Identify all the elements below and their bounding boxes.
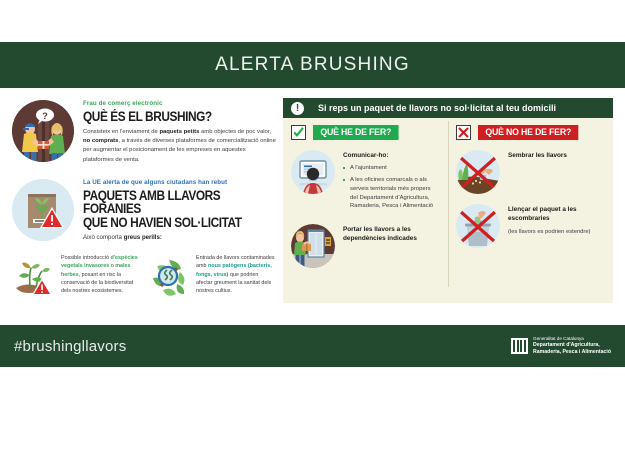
generalitat-logo-mark	[511, 338, 528, 354]
checkmark-box-icon	[291, 125, 306, 140]
do-item-communicate-bullets: A l'ajuntamentA les oficines comarcals o…	[343, 164, 440, 211]
header-band: ALERTA BRUSHING	[0, 42, 625, 88]
dont-item-sow: Sembrar les llavors	[456, 150, 605, 194]
svg-text:?: ?	[42, 111, 48, 121]
list-item: A les oficines comarcals o als serveis t…	[343, 176, 440, 211]
do-item-deliver-title: Portar les llavors a les dependències in…	[343, 226, 440, 244]
column-what-to-do: QUÈ HE DE FER?	[283, 118, 448, 303]
generalitat-logo-text: Generalitat de Catalunya Departament d'A…	[533, 336, 611, 355]
do-item-deliver-text: Portar les llavors a les dependències in…	[343, 224, 440, 244]
do-item-communicate: Comunicar-ho: A l'ajuntamentA les oficin…	[291, 150, 440, 214]
generalitat-de-catalunya-logo: Generalitat de Catalunya Departament d'A…	[511, 336, 611, 355]
block2-subnote-bold: greus perills:	[124, 234, 162, 241]
block2-headline-line2: QUE NO HAVIEN SOL·LICITAT	[83, 216, 253, 230]
block2-text: La UE alerta de que alguns ciutadans han…	[83, 179, 276, 241]
dont-item-sow-text: Sembrar les llavors	[508, 150, 605, 161]
magnifier-leaf-pathogen-illustration	[147, 254, 191, 298]
do-tag-row: QUÈ HE DE FER?	[291, 125, 440, 140]
right-panel-banner-text: Si reps un paquet de llavors no sol·lici…	[318, 103, 556, 113]
dont-item-trash: Llençar el paquet a les escombraries (le…	[456, 204, 605, 248]
risk-pathogens: Entrada de llavors contaminades amb nous…	[147, 254, 276, 298]
footer-hashtag: #brushingllavors	[14, 338, 126, 355]
wilting-plant-warning-illustration	[12, 254, 56, 298]
block2-subnote-prefix: Això comporta	[83, 234, 124, 241]
do-item-communicate-title: Comunicar-ho:	[343, 152, 440, 161]
dont-item-trash-title: Llençar el paquet a les escombraries	[508, 206, 605, 224]
person-at-computer-illustration	[291, 150, 335, 194]
page-title: ALERTA BRUSHING	[215, 54, 410, 76]
column-divider	[448, 121, 449, 287]
do-item-communicate-text: Comunicar-ho: A l'ajuntamentA les oficin…	[343, 150, 440, 214]
block1-text: Frau de comerç electrònic QUÈ ÉS EL BRUS…	[83, 100, 276, 165]
dont-tag-row: QUÈ NO HE DE FER?	[456, 125, 605, 140]
seed-packet-warning-illustration	[12, 179, 74, 241]
exclamation-circle-icon: !	[291, 102, 304, 115]
trash-bin-crossed-illustration	[456, 204, 500, 248]
logo-line-2: Departament d'Agricultura,	[533, 342, 611, 349]
planting-seeds-crossed-illustration	[456, 150, 500, 194]
dont-item-trash-subtext: (les llavors es podrien estendre)	[508, 228, 605, 237]
cross-box-icon	[456, 125, 471, 140]
person-delivering-package-illustration	[291, 224, 335, 268]
block2-kicker: La UE alerta de que alguns ciutadans han…	[83, 179, 276, 187]
block-what-is-brushing: ?	[12, 100, 276, 165]
risk1-text: Possible introducció d'espècies vegetals…	[61, 254, 141, 296]
risk2-text: Entrada de llavors contaminades amb nous…	[196, 254, 276, 296]
right-panel-columns: QUÈ HE DE FER?	[283, 118, 613, 303]
risk-invasive-plants: Possible introducció d'espècies vegetals…	[12, 254, 141, 298]
dont-tag-label: QUÈ NO HE DE FER?	[478, 125, 578, 140]
right-panel-banner: ! Si reps un paquet de llavors no sol·li…	[283, 98, 613, 118]
block1-kicker: Frau de comerç electrònic	[83, 100, 276, 108]
column-what-not-to-do: QUÈ NO HE DE FER?	[448, 118, 613, 303]
dont-item-trash-text: Llençar el paquet a les escombraries (le…	[508, 204, 605, 237]
logo-line-3: Ramaderia, Pesca i Alimentació	[533, 349, 611, 356]
block2-headline-line1: PAQUETS AMB LLAVORS FORANIES	[83, 189, 253, 217]
block1-headline: QUÈ ÉS EL BRUSHING?	[83, 110, 253, 124]
block-foreign-seed-packets: La UE alerta de que alguns ciutadans han…	[12, 179, 276, 241]
do-item-deliver: Portar les llavors a les dependències in…	[291, 224, 440, 268]
block2-subnote: Això comporta greus perills:	[83, 234, 276, 241]
dont-item-sow-title: Sembrar les llavors	[508, 152, 605, 161]
content-area: ?	[0, 88, 625, 320]
delivery-people-illustration: ?	[12, 100, 74, 162]
right-panel: ! Si reps un paquet de llavors no sol·li…	[283, 98, 613, 303]
left-column: ?	[12, 100, 276, 298]
infographic-poster: ALERTA BRUSHING ?	[0, 0, 625, 459]
footer-band: #brushingllavors Generalitat de Cataluny…	[0, 325, 625, 367]
do-tag-label: QUÈ HE DE FER?	[313, 125, 398, 140]
risk-row: Possible introducció d'espècies vegetals…	[12, 254, 276, 298]
block1-paragraph: Consisteix en l'enviament de paquets pet…	[83, 128, 276, 165]
list-item: A l'ajuntament	[343, 164, 440, 173]
